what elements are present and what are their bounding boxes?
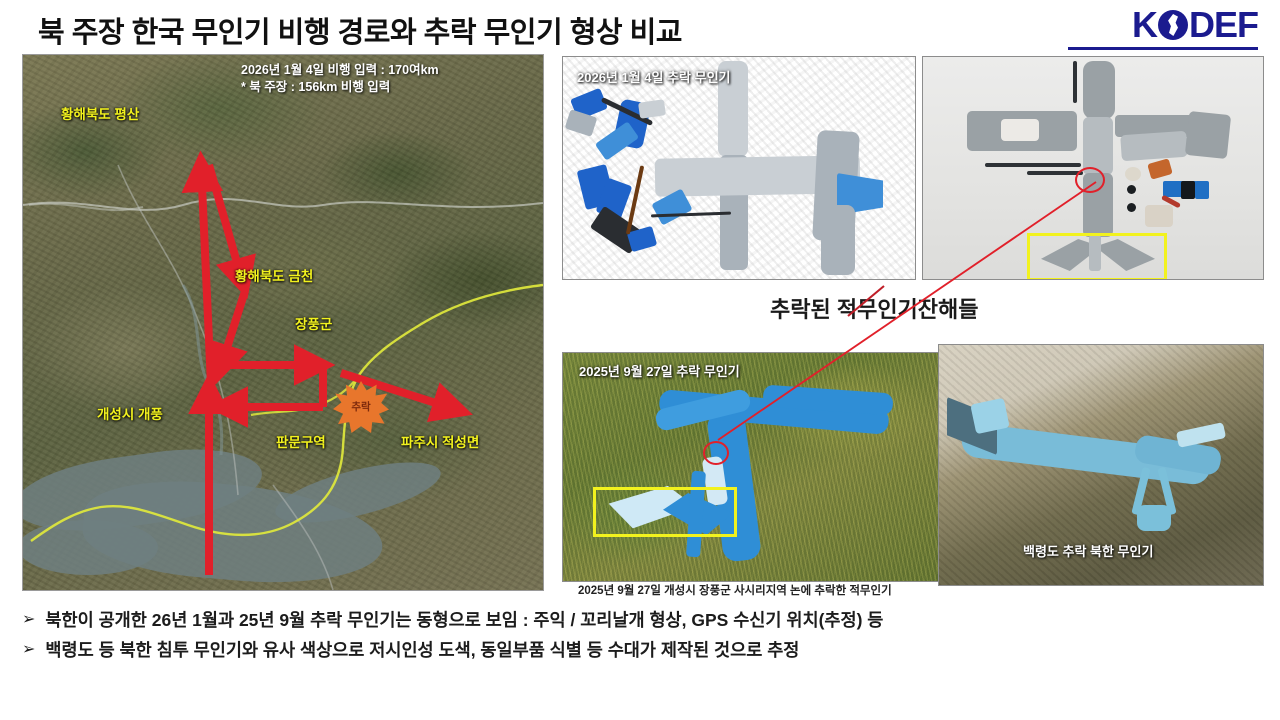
logo-letters-def: DEF (1189, 6, 1258, 44)
part-spar-rod (985, 163, 1081, 167)
part-controller (1181, 181, 1195, 199)
part-electronics-disc (1125, 167, 1141, 181)
photo-drone-parts-layout[interactable] (922, 56, 1264, 280)
logo-letter-k: K (1132, 6, 1157, 44)
middle-caption-text: 추락된 적무인기잔해들 (770, 297, 979, 322)
bullet-item-2: ➢ 백령도 등 북한 침투 무인기와 유사 색상으로 저시인성 도색, 동일부품… (22, 635, 1262, 665)
part-small-component (1127, 185, 1136, 194)
part-wiring-bundle (1145, 205, 1173, 227)
drone-tail-panel (821, 205, 855, 275)
bullet-marker-icon: ➢ (22, 635, 35, 665)
photo-caption-baengnyeongdo: 백령도 추락 북한 무인기 (1023, 541, 1153, 560)
bullet-item-1: ➢ 북한이 공개한 26년 1월과 25년 9월 추락 무인기는 동형으로 보임… (22, 605, 1262, 635)
photo-crashed-drone-2026-jan[interactable]: 2026년 1월 4일 추락 무인기 (562, 56, 916, 280)
map-note-line-2: * 북 주장 : 156km 비행 입력 (241, 79, 439, 96)
map-label-kaesong-gaepung: 개성시 개풍 (97, 403, 163, 423)
map-flight-distance-note: 2026년 1월 4일 비행 입력 : 170여km * 북 주장 : 156k… (241, 62, 439, 96)
map-label-paju-jeokseong: 파주시 적성면 (401, 431, 479, 451)
part-small-component (1127, 203, 1136, 212)
map-overlay-vectors (23, 55, 543, 590)
slide-root: 북 주장 한국 무인기 비행 경로와 추락 무인기 형상 비교 K DEF (0, 0, 1280, 720)
middle-caption-crashed-enemy-drone-wreckage: 추락된 적무인기잔해들 (770, 292, 979, 324)
summary-bullets: ➢ 북한이 공개한 26년 1월과 25년 9월 추락 무인기는 동형으로 보임… (22, 605, 1262, 665)
crash-site-marker-label: 추락 (351, 402, 370, 413)
photo-crashed-drone-2025-sep[interactable]: 2025년 9월 27일 추락 무인기 (562, 352, 942, 582)
map-note-line-1: 2026년 1월 4일 비행 입력 : 170여km (241, 62, 439, 79)
photo-baengnyeongdo-drone[interactable]: 백령도 추락 북한 무인기 (938, 344, 1264, 586)
drone-sensor-pod (1137, 505, 1171, 531)
part-spar-rod (1027, 171, 1083, 175)
part-nose-section (1083, 61, 1115, 119)
bullet-text-2: 백령도 등 북한 침투 무인기와 유사 색상으로 저시인성 도색, 동일부품 식… (45, 635, 799, 665)
kodef-logo: K DEF (1132, 6, 1258, 44)
slide-header: 북 주장 한국 무인기 비행 경로와 추락 무인기 형상 비교 K DEF (0, 0, 1280, 52)
bullet-marker-icon: ➢ (22, 605, 35, 635)
tail-highlight-box-annotation (593, 487, 737, 537)
map-label-hwanghaebukdo-pyongsan: 황해북도 평산 (61, 103, 139, 123)
photo-subcaption-2025-sep-detail: 2025년 9월 27일 개성시 장풍군 사시리지역 논에 추락한 적무인기 (578, 582, 892, 598)
gps-receiver-circle-annotation (703, 441, 729, 465)
map-label-panmun-guyeok: 판문구역 (276, 431, 326, 451)
photo-caption-2025-sep: 2025년 9월 27일 추락 무인기 (579, 361, 740, 380)
page-title: 북 주장 한국 무인기 비행 경로와 추락 무인기 형상 비교 (38, 9, 682, 51)
flight-route-map[interactable]: 2026년 1월 4일 비행 입력 : 170여km * 북 주장 : 156k… (22, 54, 544, 591)
logo-underline (1068, 47, 1258, 50)
part-wing-cutout (1001, 119, 1039, 141)
map-label-jangpung-gun: 장풍군 (295, 313, 332, 333)
gps-receiver-circle-annotation (1075, 167, 1105, 193)
photo-caption-2026-jan: 2026년 1월 4일 추락 무인기 (577, 67, 731, 86)
bullet-text-1: 북한이 공개한 26년 1월과 25년 9월 추락 무인기는 동형으로 보임 :… (45, 605, 883, 635)
part-battery-module (1195, 181, 1209, 199)
tail-highlight-box-annotation (1027, 233, 1167, 280)
part-right-wing-outer (1120, 131, 1188, 162)
map-label-hwanghaebukdo-kumchon: 황해북도 금천 (235, 265, 313, 285)
logo-korea-peninsula-icon (1158, 10, 1188, 40)
part-wing-tip (1185, 111, 1231, 159)
part-antenna-rod (1073, 61, 1077, 103)
